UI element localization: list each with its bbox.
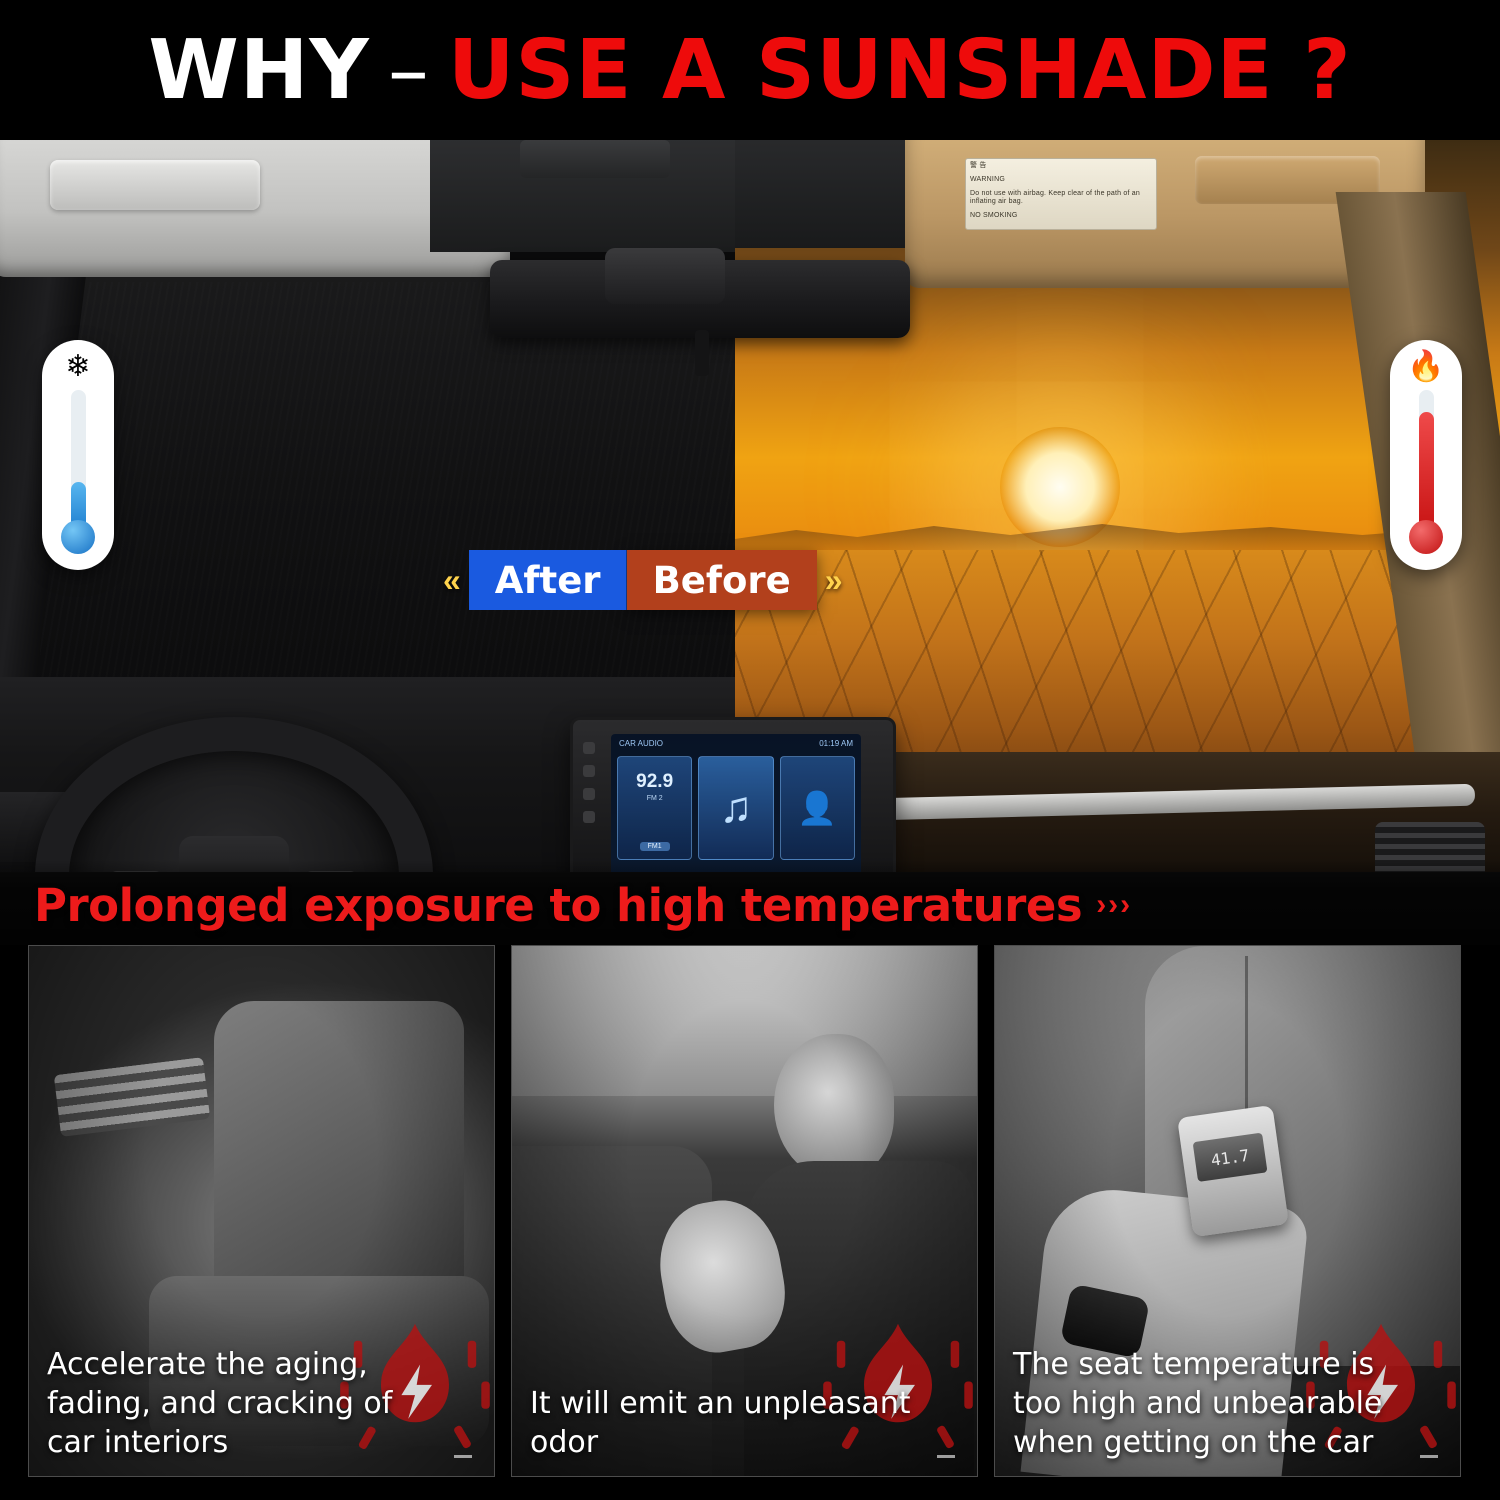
radio-card[interactable]: 92.9 FM 2 FM1: [617, 756, 692, 860]
chevron-left-icon: «: [435, 562, 469, 599]
page-title: WHY – USE A SUNSHADE ?: [0, 0, 1500, 140]
thermometer-cold: ❄: [42, 340, 114, 570]
car-head-unit: CAR AUDIO 01:19 AM 92.9 FM 2 FM1 ♫ 👤: [570, 717, 896, 872]
mirror-stem: [695, 330, 709, 376]
thermometer-hot-tube: [1419, 390, 1434, 530]
badge-after: After: [469, 550, 627, 610]
thermometer-hot-bulb: [1409, 520, 1443, 554]
head-unit-button-3[interactable]: [583, 788, 595, 800]
panel-odor-caption: It will emit an unpleasant odor: [530, 1384, 917, 1462]
radio-frequency: 92.9: [618, 771, 691, 793]
promo-image-root: WHY – USE A SUNSHADE ?: [0, 0, 1500, 1500]
head-unit-button-1[interactable]: [583, 742, 595, 754]
panel-aging: Accelerate the aging, fading, and cracki…: [28, 945, 495, 1477]
title-word-why: WHY: [148, 23, 369, 118]
thermometer-hot-fill: [1419, 412, 1434, 530]
benefit-panels: Accelerate the aging, fading, and cracki…: [0, 945, 1500, 1500]
mid-banner: Prolonged exposure to high temperatures …: [0, 860, 1500, 950]
thermometer-cold-bulb: [61, 520, 95, 554]
radio-band: FM 2: [618, 795, 691, 802]
mid-banner-text: Prolonged exposure to high temperatures: [0, 879, 1082, 932]
head-unit-button-2[interactable]: [583, 765, 595, 777]
head-unit-clock: 01:19 AM: [819, 739, 853, 748]
panel-corner-tick: [1420, 1455, 1438, 1458]
panel-seat-temperature: 41.7 The seat temperature is too high an…: [994, 945, 1461, 1477]
climate-seat-card[interactable]: 👤: [780, 756, 855, 860]
visor-warning-line3: Do not use with airbag. Keep clear of th…: [966, 187, 1156, 209]
sunshade-texture: [40, 282, 735, 702]
thermometer-hot: 🔥: [1390, 340, 1462, 570]
title-word-use-a-sunshade: USE A SUNSHADE ?: [448, 23, 1352, 118]
music-card[interactable]: ♫: [698, 756, 773, 860]
chevron-right-icon: »: [817, 562, 851, 599]
head-unit-button-4[interactable]: [583, 811, 595, 823]
seat-occupant-icon: 👤: [797, 789, 837, 827]
panel-corner-tick: [454, 1455, 472, 1458]
head-unit-brand: CAR AUDIO: [619, 739, 663, 748]
dome-light: [520, 140, 670, 178]
before-after-badges: « After Before »: [435, 550, 851, 610]
badge-before: Before: [627, 550, 817, 610]
head-unit-side-buttons[interactable]: [583, 742, 605, 823]
header-bar: WHY – USE A SUNSHADE ?: [0, 0, 1500, 140]
head-unit-screen[interactable]: CAR AUDIO 01:19 AM 92.9 FM 2 FM1 ♫ 👤: [611, 734, 861, 872]
music-note-icon: ♫: [719, 783, 752, 833]
panel-seat-temperature-caption: The seat temperature is too high and unb…: [1013, 1345, 1400, 1462]
mirror-mount-cap: [605, 248, 725, 304]
chevron-right-arrows-icon: ›››: [1082, 888, 1132, 922]
visor-warning-line2: WARNING: [966, 173, 1156, 187]
head-unit-cards: 92.9 FM 2 FM1 ♫ 👤: [617, 756, 855, 860]
head-unit-status-bar: CAR AUDIO 01:19 AM: [611, 734, 861, 752]
visor-warning-line1: 警 告: [966, 159, 1156, 173]
radio-preset[interactable]: FM1: [640, 842, 670, 851]
visor-warning-line4: NO SMOKING: [966, 209, 1156, 223]
title-dash: –: [370, 23, 448, 118]
panel-odor: It will emit an unpleasant odor: [511, 945, 978, 1477]
thermometer-cold-tube: [71, 390, 86, 530]
flame-icon: 🔥: [1407, 350, 1444, 384]
hero-comparison-image: 警 告 WARNING Do not use with airbag. Keep…: [0, 132, 1500, 872]
rearview-mirror: [490, 260, 910, 338]
visor-warning-label: 警 告 WARNING Do not use with airbag. Keep…: [965, 158, 1157, 230]
snowflake-icon: ❄: [65, 350, 90, 384]
panel-aging-caption: Accelerate the aging, fading, and cracki…: [47, 1345, 434, 1462]
panel-corner-tick: [937, 1455, 955, 1458]
